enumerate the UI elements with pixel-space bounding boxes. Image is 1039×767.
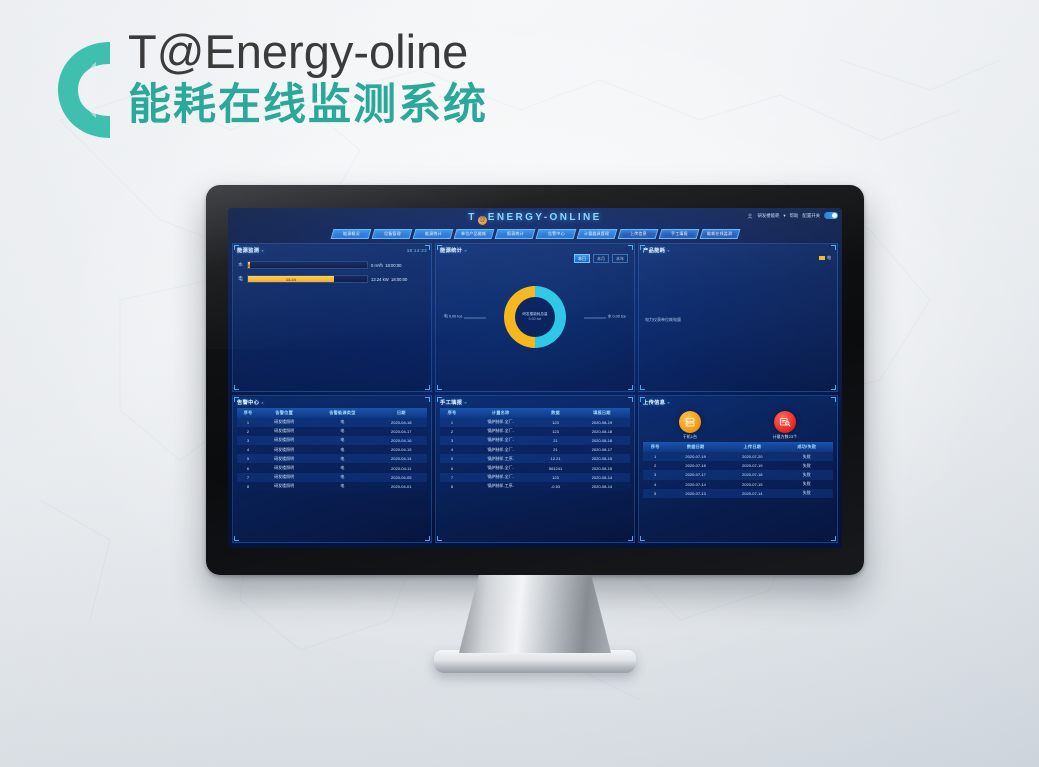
meter-reading-time: 18:00:00 bbox=[385, 263, 401, 268]
nav-label: 能耗在线监测 bbox=[707, 231, 732, 237]
table-cell: 失败 bbox=[781, 452, 833, 461]
table-cell: 123 bbox=[537, 418, 574, 427]
meter-reading-value: 0 m³/h bbox=[371, 263, 383, 268]
panel-title-marker: » bbox=[464, 400, 467, 405]
table-cell: 2020-07-14 bbox=[667, 480, 724, 489]
report-search-icon bbox=[774, 411, 796, 433]
main-nav: 能源概况 设备管理 能源统计 单位产品能耗 报表统计 告警中心 计量器具管理 上… bbox=[228, 227, 842, 240]
config-toggle[interactable] bbox=[824, 212, 838, 219]
panel-title-marker: » bbox=[667, 248, 670, 253]
table-cell: 3 bbox=[237, 436, 259, 445]
alarm-table: 序号告警位置告警能源类型日期 1研发楼照明电2020-04-182研发楼照明电2… bbox=[237, 408, 427, 492]
table-row[interactable]: 1锅炉制样-全厂-1232020-08-19 bbox=[440, 418, 630, 427]
panel-alarm-center: 告警中心» 序号告警位置告警能源类型日期 1研发楼照明电2020-04-182研… bbox=[232, 395, 432, 544]
panel-title: 告警中心» bbox=[237, 399, 264, 406]
table-cell: 失败 bbox=[781, 470, 833, 479]
meter-row-water: 水 0 0 m³/h 18:00:00 bbox=[237, 261, 427, 269]
table-column-header: 序号 bbox=[440, 408, 464, 418]
table-cell: 电 bbox=[309, 427, 375, 436]
monitor: T@ENERGY-ONLINE 研发楼能耗 ▾ 帮助 配置开关 能源概况 设备管… bbox=[206, 185, 864, 673]
panel-title-marker: » bbox=[261, 248, 264, 253]
table-cell: 2020-08-15 bbox=[574, 463, 630, 472]
table-cell: 8 bbox=[237, 482, 259, 491]
legend-label: 电 bbox=[827, 255, 831, 261]
table-row[interactable]: 7研发楼照明电2020-04-05 bbox=[237, 473, 427, 482]
table-column-header: 告警位置 bbox=[259, 408, 309, 418]
table-cell: 2020-04-05 bbox=[376, 473, 427, 482]
table-cell: 123 bbox=[537, 473, 574, 482]
table-cell: 5 bbox=[237, 454, 259, 463]
table-cell: 失败 bbox=[781, 480, 833, 489]
monitor-neck bbox=[459, 575, 611, 653]
table-cell: 电 bbox=[309, 436, 375, 445]
upload-tile-caption: 计量方数23个 bbox=[773, 434, 797, 440]
at-symbol-icon: @ bbox=[478, 216, 487, 225]
panel-title: 能源监测» bbox=[237, 247, 264, 254]
table-cell: 2020-04-18 bbox=[376, 418, 427, 427]
table-cell: 2020-07-20 bbox=[724, 452, 781, 461]
table-column-header: 填报日期 bbox=[574, 408, 630, 418]
meter-bar-value: 13.24 bbox=[286, 277, 296, 282]
panel-header: 产品能耗» bbox=[643, 246, 833, 255]
table-cell: 6 bbox=[440, 463, 464, 472]
table-cell: -0.53 bbox=[537, 482, 574, 491]
nav-item-6[interactable]: 计量器具管理 bbox=[576, 229, 617, 239]
table-row[interactable]: 8锅炉制样-工序--0.532020-08-14 bbox=[440, 482, 630, 491]
table-header-row: 序号数据日期上传日期成功/失败 bbox=[643, 442, 833, 452]
manual-table: 序号计量名称数据填报日期 1锅炉制样-全厂-1232020-08-192锅炉制样… bbox=[440, 408, 630, 492]
table-cell: 研发楼照明 bbox=[259, 473, 309, 482]
nav-label: 手工填报 bbox=[670, 231, 687, 237]
table-cell: 2 bbox=[643, 461, 667, 470]
nav-item-2[interactable]: 能源统计 bbox=[412, 229, 453, 239]
table-cell: 锅炉制样-全厂- bbox=[464, 427, 537, 436]
upload-tile-meters[interactable]: 计量方数23个 bbox=[773, 411, 797, 441]
table-row[interactable]: 6锅炉制样-全厂-5612412020-08-15 bbox=[440, 463, 630, 472]
table-cell: 失败 bbox=[781, 461, 833, 470]
table-cell: 失败 bbox=[781, 489, 833, 498]
panel-title-text: 手工填报 bbox=[440, 400, 462, 406]
nav-label: 告警中心 bbox=[547, 231, 564, 237]
panel-title-marker: » bbox=[464, 248, 467, 253]
nav-item-1[interactable]: 设备管理 bbox=[371, 229, 412, 239]
table-cell: 研发楼照明 bbox=[259, 427, 309, 436]
panel-manual-entry: 手工填报» 序号计量名称数据填报日期 1锅炉制样-全厂-1232020-08-1… bbox=[435, 395, 635, 544]
table-cell: 研发楼照明 bbox=[259, 454, 309, 463]
table-cell: 5 bbox=[643, 489, 667, 498]
table-row[interactable]: 12020-07-192020-07-20失败 bbox=[643, 452, 833, 461]
nav-item-4[interactable]: 报表统计 bbox=[494, 229, 535, 239]
table-cell: 研发楼照明 bbox=[259, 482, 309, 491]
table-cell: 研发楼照明 bbox=[259, 445, 309, 454]
panel-energy-statistics: 能源统计» 本日 本月 本年 电 0.00 tce 研发楼能耗总量 0.00 t… bbox=[435, 243, 635, 392]
table-row[interactable]: 4锅炉制样-全厂-212020-08-17 bbox=[440, 445, 630, 454]
table-cell: 2020-08-17 bbox=[574, 445, 630, 454]
table-cell: 4 bbox=[643, 480, 667, 489]
table-column-header: 日期 bbox=[376, 408, 427, 418]
table-cell: 2020-08-18 bbox=[574, 436, 630, 445]
dashboard-screen: T@ENERGY-ONLINE 研发楼能耗 ▾ 帮助 配置开关 能源概况 设备管… bbox=[228, 208, 842, 548]
table-column-header: 告警能源类型 bbox=[309, 408, 375, 418]
help-label[interactable]: 帮助 bbox=[790, 213, 799, 219]
donut-label-right-text: 水 0.00 tce bbox=[608, 315, 626, 320]
brand-block: T@Energy-oline 能耗在线监测系统 bbox=[48, 24, 488, 148]
table-row[interactable]: 3锅炉制样-全厂-212020-08-18 bbox=[440, 436, 630, 445]
table-row[interactable]: 5锅炉制样-工序-12.212020-08-15 bbox=[440, 454, 630, 463]
table-cell: 2 bbox=[440, 427, 464, 436]
server-icon bbox=[679, 411, 701, 433]
nav-item-0[interactable]: 能源概况 bbox=[330, 229, 371, 239]
table-row[interactable]: 4研发楼照明电2020-04-15 bbox=[237, 445, 427, 454]
donut-center-line2: 0.00 tce bbox=[529, 317, 542, 322]
table-cell: 研发楼照明 bbox=[259, 418, 309, 427]
clock: 18:14:23 bbox=[407, 248, 427, 253]
panel-header: 手工填报» bbox=[440, 398, 630, 407]
nav-label: 上传信息 bbox=[629, 231, 646, 237]
meter-reading-time: 18:00:00 bbox=[391, 277, 407, 282]
panel-energy-monitor: 能源监测» 18:14:23 水 0 0 m³/h 18:00:00 电 13. bbox=[232, 243, 432, 392]
table-row[interactable]: 32020-07-172020-07-18失败 bbox=[643, 470, 833, 479]
meter-label: 水 bbox=[237, 262, 244, 268]
table-cell: 12.21 bbox=[537, 454, 574, 463]
table-row[interactable]: 5研发楼照明电2020-04-14 bbox=[237, 454, 427, 463]
table-cell: 2020-07-13 bbox=[667, 489, 724, 498]
table-cell: 锅炉制样-全厂- bbox=[464, 473, 537, 482]
chevron-down-icon[interactable]: ▾ bbox=[783, 213, 785, 219]
meter-bar-fill: 13.24 bbox=[248, 276, 334, 282]
table-row[interactable]: 7锅炉制样-全厂-1232020-08-14 bbox=[440, 473, 630, 482]
table-header-row: 序号计量名称数据填报日期 bbox=[440, 408, 630, 418]
nav-item-3[interactable]: 单位产品能耗 bbox=[453, 229, 494, 239]
table-column-header: 上传日期 bbox=[724, 442, 781, 452]
table-cell: 7 bbox=[440, 473, 464, 482]
meter-bar-value: 0 bbox=[248, 263, 250, 268]
table-cell: 2020-04-17 bbox=[376, 427, 427, 436]
table-cell: 2020-04-16 bbox=[376, 436, 427, 445]
panel-title-text: 告警中心 bbox=[237, 400, 259, 406]
table-cell: 2020-07-19 bbox=[667, 452, 724, 461]
nav-label: 能源概况 bbox=[342, 231, 359, 237]
app-logo-left: T bbox=[468, 212, 477, 223]
meter-bar-track: 0 bbox=[247, 261, 368, 269]
nav-label: 计量器具管理 bbox=[584, 231, 609, 237]
table-row[interactable]: 42020-07-142020-07-15失败 bbox=[643, 480, 833, 489]
table-cell: 561241 bbox=[537, 463, 574, 472]
panel-title: 能源统计» bbox=[440, 247, 467, 254]
table-cell: 2020-08-14 bbox=[574, 482, 630, 491]
donut-label-left: 电 0.00 tce bbox=[444, 315, 486, 320]
table-cell: 1 bbox=[440, 418, 464, 427]
user-icon bbox=[747, 213, 753, 219]
table-cell: 2020-04-14 bbox=[376, 454, 427, 463]
panel-title: 手工填报» bbox=[440, 399, 467, 406]
upload-tile-devices[interactable]: 干机1台 bbox=[679, 411, 701, 441]
monitor-base bbox=[434, 650, 636, 673]
donut-chart: 电 0.00 tce 研发楼能耗总量 0.00 tce 水 0.00 tce bbox=[440, 255, 630, 380]
table-column-header: 数据 bbox=[537, 408, 574, 418]
table-row[interactable]: 6研发楼照明电2020-04-11 bbox=[237, 463, 427, 472]
table-cell: 锅炉制样-全厂- bbox=[464, 418, 537, 427]
nav-label: 设备管理 bbox=[383, 231, 400, 237]
donut-center: 研发楼能耗总量 0.00 tce bbox=[504, 286, 566, 348]
table-cell: 电 bbox=[309, 418, 375, 427]
table-column-header: 数据日期 bbox=[667, 442, 724, 452]
table-cell: 2020-07-15 bbox=[724, 480, 781, 489]
meter-reading: 13.24 kW 18:00:00 bbox=[371, 277, 427, 282]
table-cell: 3 bbox=[440, 436, 464, 445]
upload-table: 序号数据日期上传日期成功/失败 12020-07-192020-07-20失败2… bbox=[643, 442, 833, 498]
table-cell: 123 bbox=[537, 427, 574, 436]
panel-upload-info: 上传信息» 干机1台 计量方数23 bbox=[638, 395, 838, 544]
upload-tiles: 干机1台 计量方数23个 bbox=[643, 411, 833, 441]
table-cell: 1 bbox=[643, 452, 667, 461]
legend-swatch-icon bbox=[819, 256, 825, 260]
table-cell: 研发楼照明 bbox=[259, 463, 309, 472]
table-row[interactable]: 1研发楼照明电2020-04-18 bbox=[237, 418, 427, 427]
meter-row-power: 电 13.24 13.24 kW 18:00:00 bbox=[237, 275, 427, 283]
table-row[interactable]: 8研发楼照明电2020-04-01 bbox=[237, 482, 427, 491]
c-logo-icon bbox=[48, 32, 122, 148]
upload-tile-caption: 干机1台 bbox=[679, 434, 701, 440]
table-cell: 锅炉制样-全厂- bbox=[464, 445, 537, 454]
table-cell: 2020-04-15 bbox=[376, 445, 427, 454]
table-column-header: 成功/失败 bbox=[781, 442, 833, 452]
nav-item-8[interactable]: 手工填报 bbox=[658, 229, 699, 239]
user-name: 研发楼能耗 bbox=[757, 213, 779, 219]
table-cell: 电 bbox=[309, 445, 375, 454]
panel-title-text: 上传信息 bbox=[643, 400, 665, 406]
table-cell: 2020-07-18 bbox=[667, 461, 724, 470]
nav-item-7[interactable]: 上传信息 bbox=[617, 229, 658, 239]
table-cell: 锅炉制样-全厂- bbox=[464, 463, 537, 472]
table-cell: 电 bbox=[309, 482, 375, 491]
table-cell: 5 bbox=[440, 454, 464, 463]
table-cell: 3 bbox=[643, 470, 667, 479]
panel-header: 上传信息» bbox=[643, 398, 833, 407]
table-cell: 2020-04-11 bbox=[376, 463, 427, 472]
table-cell: 21 bbox=[537, 445, 574, 454]
nav-label: 能源统计 bbox=[424, 231, 441, 237]
table-body: 12020-07-192020-07-20失败22020-07-182020-0… bbox=[643, 452, 833, 498]
meter-reading-value: 13.24 kW bbox=[371, 277, 389, 282]
table-row[interactable]: 2锅炉制样-全厂-1232020-08-18 bbox=[440, 427, 630, 436]
table-cell: 2020-07-14 bbox=[724, 489, 781, 498]
page-title: T@Energy-oline bbox=[128, 26, 488, 79]
table-body: 1锅炉制样-全厂-1232020-08-192锅炉制样-全厂-1232020-0… bbox=[440, 418, 630, 492]
table-row[interactable]: 52020-07-132020-07-14失败 bbox=[643, 489, 833, 498]
donut-label-left-text: 电 0.00 tce bbox=[444, 315, 462, 320]
nav-item-5[interactable]: 告警中心 bbox=[535, 229, 576, 239]
table-cell: 电 bbox=[309, 454, 375, 463]
panel-header: 能源监测» 18:14:23 bbox=[237, 246, 427, 255]
nav-label: 单位产品能耗 bbox=[461, 231, 486, 237]
panel-header: 告警中心» bbox=[237, 398, 427, 407]
table-body: 1研发楼照明电2020-04-182研发楼照明电2020-04-173研发楼照明… bbox=[237, 418, 427, 492]
page-subtitle: 能耗在线监测系统 bbox=[128, 81, 488, 130]
table-cell: 4 bbox=[440, 445, 464, 454]
table-row[interactable]: 3研发楼照明电2020-04-16 bbox=[237, 436, 427, 445]
table-cell: 锅炉制样-全厂- bbox=[464, 436, 537, 445]
user-area[interactable]: 研发楼能耗 ▾ 帮助 配置开关 bbox=[747, 212, 838, 219]
nav-item-9[interactable]: 能耗在线监测 bbox=[699, 229, 740, 239]
table-cell: 2020-07-19 bbox=[724, 461, 781, 470]
table-cell: 锅炉制样-工序- bbox=[464, 454, 537, 463]
table-cell: 2020-07-18 bbox=[724, 470, 781, 479]
table-row[interactable]: 2研发楼照明电2020-04-17 bbox=[237, 427, 427, 436]
panel-title: 上传信息» bbox=[643, 399, 670, 406]
meter-bar-track: 13.24 bbox=[247, 275, 368, 283]
panel-title: 产品能耗» bbox=[643, 247, 670, 254]
table-cell: 2020-08-15 bbox=[574, 454, 630, 463]
panel-product-energy: 产品能耗» 电 电力仪表单位耗电量 bbox=[638, 243, 838, 392]
table-cell: 2020-04-01 bbox=[376, 482, 427, 491]
table-cell: 4 bbox=[237, 445, 259, 454]
table-column-header: 计量名称 bbox=[464, 408, 537, 418]
table-cell: 2020-07-17 bbox=[667, 470, 724, 479]
table-cell: 研发楼照明 bbox=[259, 436, 309, 445]
table-cell: 电 bbox=[309, 473, 375, 482]
toggle-label: 配置开关 bbox=[802, 213, 820, 219]
donut-ring: 研发楼能耗总量 0.00 tce bbox=[504, 286, 566, 348]
panel-title-text: 产品能耗 bbox=[643, 248, 665, 254]
monitor-bezel: T@ENERGY-ONLINE 研发楼能耗 ▾ 帮助 配置开关 能源概况 设备管… bbox=[206, 185, 864, 575]
table-cell: 21 bbox=[537, 436, 574, 445]
panel-title-marker: » bbox=[261, 400, 264, 405]
table-cell: 2020-08-14 bbox=[574, 473, 630, 482]
screen-header: T@ENERGY-ONLINE 研发楼能耗 ▾ 帮助 配置开关 bbox=[228, 208, 842, 227]
table-header-row: 序号告警位置告警能源类型日期 bbox=[237, 408, 427, 418]
meter-label: 电 bbox=[237, 276, 244, 282]
panel-title-text: 能源统计 bbox=[440, 248, 462, 254]
donut-label-right: 水 0.00 tce bbox=[584, 315, 626, 320]
table-cell: 锅炉制样-工序- bbox=[464, 482, 537, 491]
meter-bar-fill: 0 bbox=[248, 262, 250, 268]
table-cell: 7 bbox=[237, 473, 259, 482]
table-cell: 电 bbox=[309, 463, 375, 472]
table-column-header: 序号 bbox=[643, 442, 667, 452]
table-row[interactable]: 22020-07-182020-07-19失败 bbox=[643, 461, 833, 470]
table-cell: 2 bbox=[237, 427, 259, 436]
product-legend: 电 bbox=[819, 255, 831, 261]
table-cell: 2020-08-19 bbox=[574, 418, 630, 427]
panel-title-marker: » bbox=[667, 400, 670, 405]
table-column-header: 序号 bbox=[237, 408, 259, 418]
product-note: 电力仪表单位耗电量 bbox=[645, 317, 681, 323]
meter-reading: 0 m³/h 18:00:00 bbox=[371, 263, 427, 268]
table-cell: 2020-08-18 bbox=[574, 427, 630, 436]
app-logo-right: ENERGY-ONLINE bbox=[488, 212, 602, 223]
table-cell: 6 bbox=[237, 463, 259, 472]
table-cell: 1 bbox=[237, 418, 259, 427]
dashboard-grid: 能源监测» 18:14:23 水 0 0 m³/h 18:00:00 电 13. bbox=[228, 240, 842, 548]
table-cell: 8 bbox=[440, 482, 464, 491]
nav-label: 报表统计 bbox=[506, 231, 523, 237]
panel-title-text: 能源监测 bbox=[237, 248, 259, 254]
